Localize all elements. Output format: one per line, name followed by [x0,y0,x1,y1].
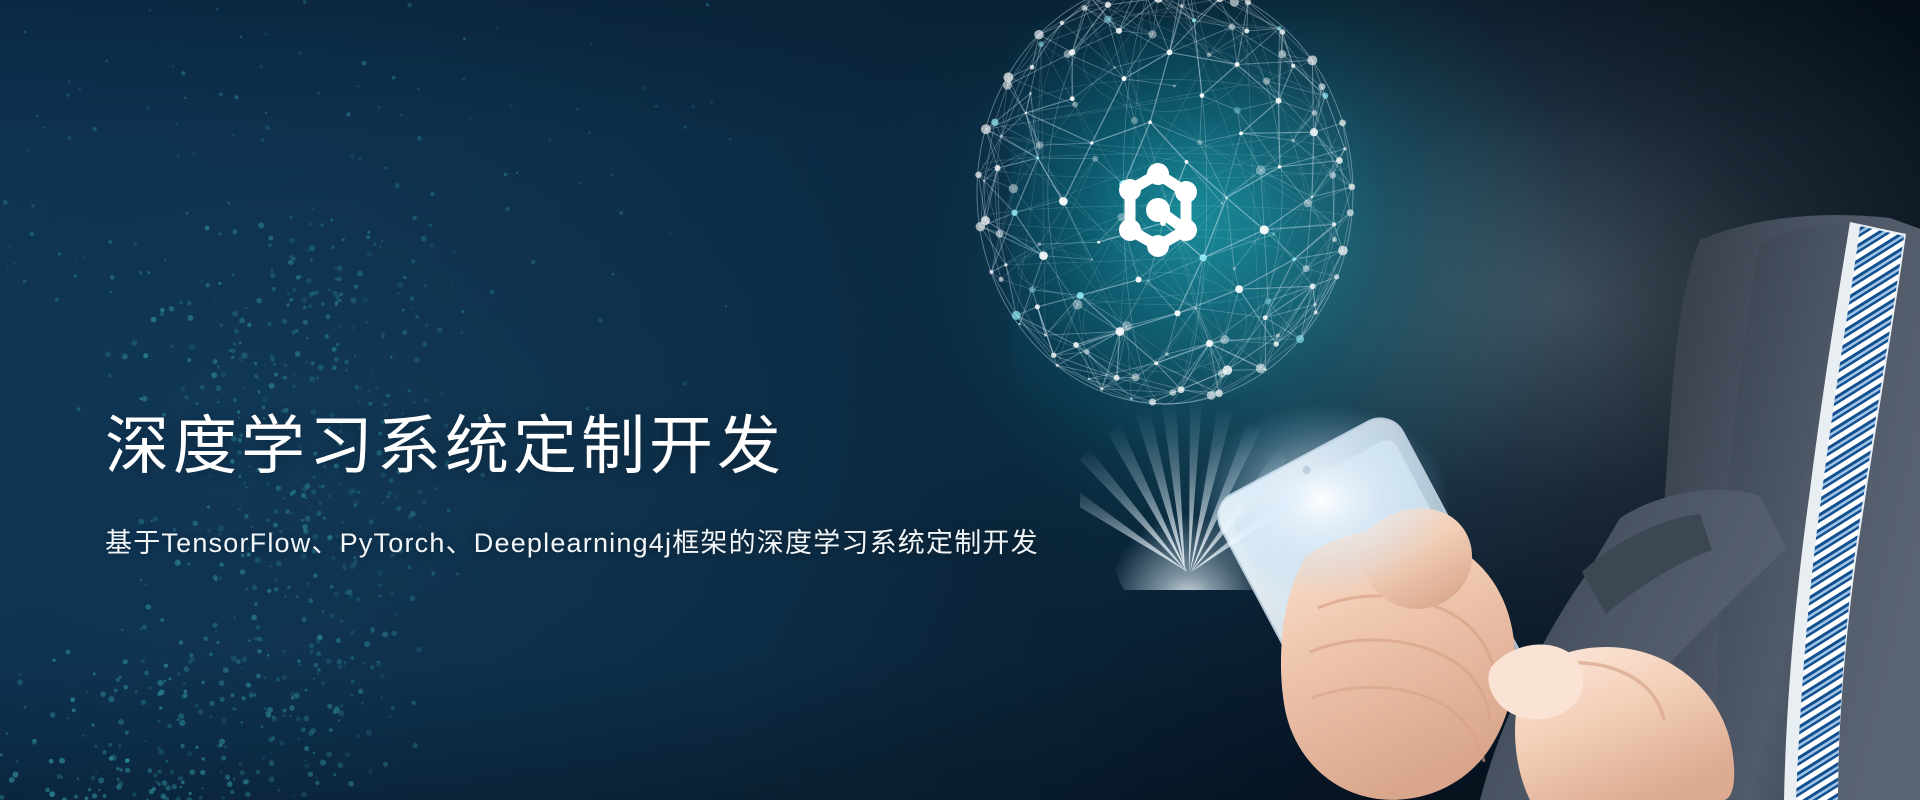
hero-banner: 深度学习系统定制开发 基于TensorFlow、PyTorch、Deeplear… [0,0,1920,800]
page-title: 深度学习系统定制开发 [105,404,1005,488]
hero-text-block: 深度学习系统定制开发 基于TensorFlow、PyTorch、Deeplear… [105,404,1005,560]
page-subtitle: 基于TensorFlow、PyTorch、Deeplearning4j框架的深度… [105,526,1005,560]
particle-swirl-graphic [0,0,760,800]
molecule-node-icon [1110,158,1206,262]
